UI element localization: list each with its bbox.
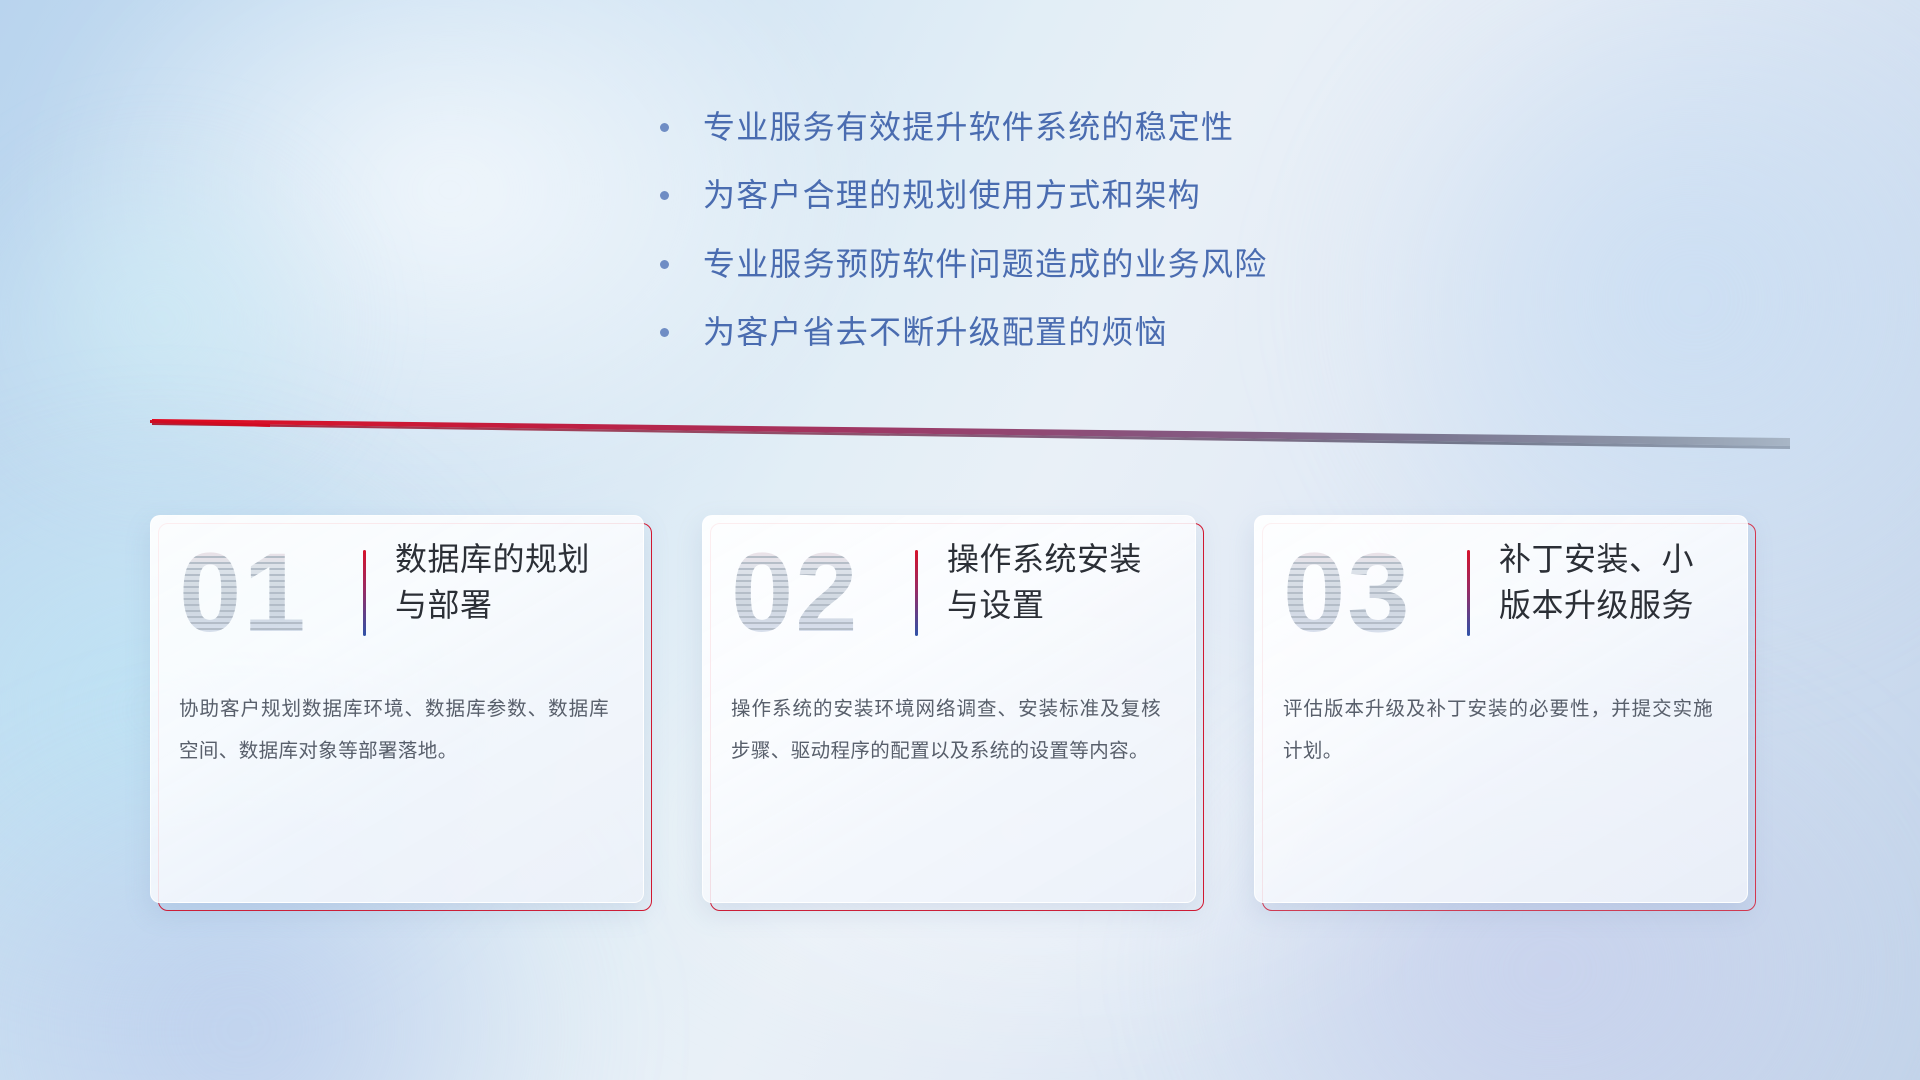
bullet-dot-icon bbox=[660, 260, 669, 269]
card-title-accent-bar bbox=[363, 550, 366, 636]
card-header: 01 数据库的规划与部署 bbox=[151, 516, 643, 666]
bullet-item: 专业服务有效提升软件系统的稳定性 bbox=[660, 108, 1480, 146]
section-divider bbox=[150, 408, 1790, 462]
card-header: 03 补丁安装、小版本升级服务 bbox=[1255, 516, 1747, 666]
card-title-accent-bar bbox=[915, 550, 918, 636]
bullet-item: 为客户合理的规划使用方式和架构 bbox=[660, 176, 1480, 214]
service-card[interactable]: 02 操作系统安装与设置 操作系统的安装环境网络调查、安装标准及复核步骤、驱动程… bbox=[702, 515, 1196, 903]
service-card-group: 01 数据库的规划与部署 协助客户规划数据库环境、数据库参数、数据库空间、数据库… bbox=[150, 515, 1770, 903]
service-card[interactable]: 01 数据库的规划与部署 协助客户规划数据库环境、数据库参数、数据库空间、数据库… bbox=[150, 515, 644, 903]
bullet-item: 专业服务预防软件问题造成的业务风险 bbox=[660, 245, 1480, 283]
bullet-dot-icon bbox=[660, 123, 669, 132]
card-surface: 03 补丁安装、小版本升级服务 评估版本升级及补丁安装的必要性，并提交实施计划。 bbox=[1254, 515, 1748, 903]
card-number-watermark: 01 bbox=[179, 538, 349, 648]
benefits-bullet-list: 专业服务有效提升软件系统的稳定性 为客户合理的规划使用方式和架构 专业服务预防软… bbox=[660, 108, 1480, 382]
bullet-label: 专业服务预防软件问题造成的业务风险 bbox=[703, 245, 1267, 283]
card-title: 数据库的规划与部署 bbox=[395, 536, 615, 628]
card-description: 评估版本升级及补丁安装的必要性，并提交实施计划。 bbox=[1283, 688, 1713, 772]
card-number-watermark: 02 bbox=[731, 538, 901, 648]
card-surface: 02 操作系统安装与设置 操作系统的安装环境网络调查、安装标准及复核步骤、驱动程… bbox=[702, 515, 1196, 903]
card-surface: 01 数据库的规划与部署 协助客户规划数据库环境、数据库参数、数据库空间、数据库… bbox=[150, 515, 644, 903]
service-card[interactable]: 03 补丁安装、小版本升级服务 评估版本升级及补丁安装的必要性，并提交实施计划。 bbox=[1254, 515, 1748, 903]
card-title-accent-bar bbox=[1467, 550, 1470, 636]
bullet-label: 为客户合理的规划使用方式和架构 bbox=[703, 176, 1201, 214]
card-description: 操作系统的安装环境网络调查、安装标准及复核步骤、驱动程序的配置以及系统的设置等内… bbox=[731, 688, 1161, 772]
card-title: 操作系统安装与设置 bbox=[947, 536, 1167, 628]
card-number-watermark: 03 bbox=[1283, 538, 1453, 648]
bullet-dot-icon bbox=[660, 328, 669, 337]
slide-canvas: 专业服务有效提升软件系统的稳定性 为客户合理的规划使用方式和架构 专业服务预防软… bbox=[0, 0, 1920, 1080]
bullet-item: 为客户省去不断升级配置的烦恼 bbox=[660, 313, 1480, 351]
background-glow-teal-corner bbox=[0, 60, 440, 580]
card-title: 补丁安装、小版本升级服务 bbox=[1499, 536, 1719, 628]
bullet-label: 专业服务有效提升软件系统的稳定性 bbox=[703, 108, 1234, 146]
card-description: 协助客户规划数据库环境、数据库参数、数据库空间、数据库对象等部署落地。 bbox=[179, 688, 609, 772]
card-header: 02 操作系统安装与设置 bbox=[703, 516, 1195, 666]
bullet-label: 为客户省去不断升级配置的烦恼 bbox=[703, 313, 1168, 351]
bullet-dot-icon bbox=[660, 191, 669, 200]
